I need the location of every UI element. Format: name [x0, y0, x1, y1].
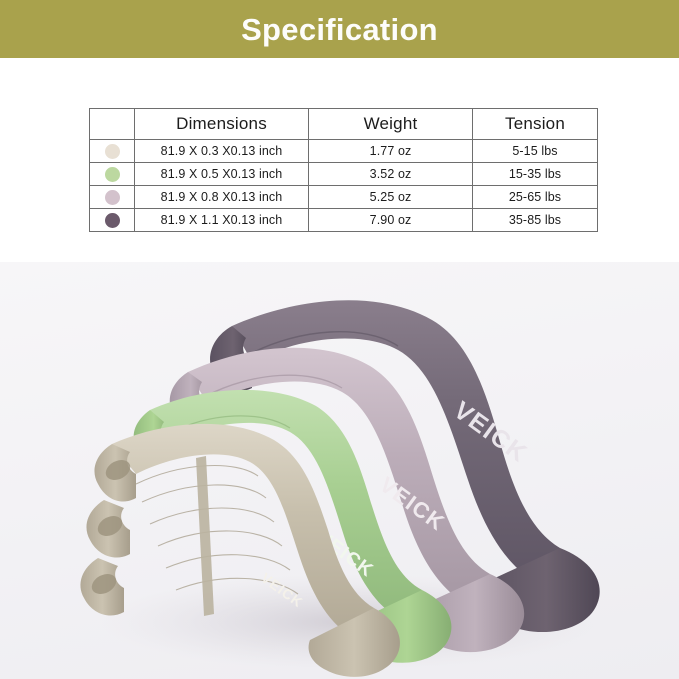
beige-loop-stack: [80, 444, 136, 616]
table-header-row: Dimensions Weight Tension: [90, 109, 598, 140]
column-header-color: [90, 109, 135, 140]
cell-weight: 3.52 oz: [309, 163, 473, 186]
mauve-swatch-icon: [105, 190, 120, 205]
green-swatch-icon: [105, 167, 120, 182]
cell-dimensions: 81.9 X 0.3 X0.13 inch: [135, 140, 309, 163]
specification-table-container: Dimensions Weight Tension 81.9 X 0.3 X0.…: [89, 108, 597, 232]
column-header-dimensions: Dimensions: [135, 109, 309, 140]
specification-table: Dimensions Weight Tension 81.9 X 0.3 X0.…: [89, 108, 598, 232]
cell-tension: 35-85 lbs: [473, 209, 598, 232]
swatch-cell: [90, 186, 135, 209]
cell-dimensions: 81.9 X 0.8 X0.13 inch: [135, 186, 309, 209]
beige-swatch-icon: [105, 144, 120, 159]
product-photo: VEICK VEICK VEICK: [0, 262, 679, 679]
specification-header-banner: Specification: [0, 0, 679, 58]
cell-tension: 25-65 lbs: [473, 186, 598, 209]
table-row: 81.9 X 0.3 X0.13 inch 1.77 oz 5-15 lbs: [90, 140, 598, 163]
cell-weight: 5.25 oz: [309, 186, 473, 209]
table-row: 81.9 X 0.5 X0.13 inch 3.52 oz 15-35 lbs: [90, 163, 598, 186]
purple-swatch-icon: [105, 213, 120, 228]
resistance-bands-illustration: VEICK VEICK VEICK: [0, 262, 679, 679]
cell-dimensions: 81.9 X 1.1 X0.13 inch: [135, 209, 309, 232]
table-row: 81.9 X 0.8 X0.13 inch 5.25 oz 25-65 lbs: [90, 186, 598, 209]
cell-tension: 15-35 lbs: [473, 163, 598, 186]
column-header-weight: Weight: [309, 109, 473, 140]
cell-dimensions: 81.9 X 0.5 X0.13 inch: [135, 163, 309, 186]
swatch-cell: [90, 163, 135, 186]
cell-weight: 7.90 oz: [309, 209, 473, 232]
swatch-cell: [90, 209, 135, 232]
swatch-cell: [90, 140, 135, 163]
column-header-tension: Tension: [473, 109, 598, 140]
cell-tension: 5-15 lbs: [473, 140, 598, 163]
cell-weight: 1.77 oz: [309, 140, 473, 163]
page-title: Specification: [241, 14, 438, 45]
table-row: 81.9 X 1.1 X0.13 inch 7.90 oz 35-85 lbs: [90, 209, 598, 232]
